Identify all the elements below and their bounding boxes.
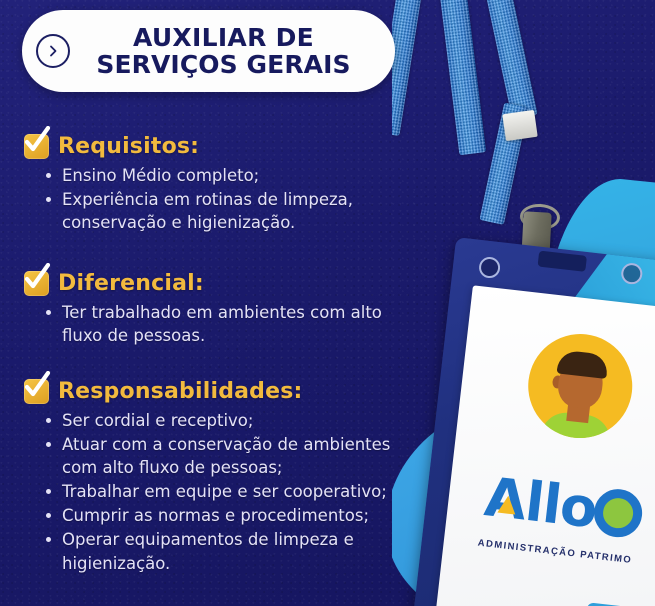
list-item: Experiência em rotinas de limpeza, conse… [46,188,353,234]
list-item: Ser cordial e receptivo; [46,409,390,432]
page-title: AUXILIAR DE SERVIÇOS GERAIS [70,24,395,78]
section-title: Requisitos: [58,134,199,159]
job-title-line1: AUXILIAR DE [70,24,377,51]
list-item: Atuar com a conservação de ambientes com… [46,433,390,479]
section-diferencial: Diferencial: Ter trabalhado em ambientes… [24,271,382,348]
job-title-pill: AUXILIAR DE SERVIÇOS GERAIS [22,10,395,92]
list-item: Ensino Médio completo; [46,164,353,187]
section-title: Responsabilidades: [58,379,303,404]
job-title-line2: SERVIÇOS GERAIS [70,51,377,78]
checkbox-checked-icon [24,379,49,404]
list-item: Trabalhar em equipe e ser cooperativo; [46,480,390,503]
section-requisitos: Requisitos: Ensino Médio completo; Exper… [24,134,353,235]
requirements-list: Ensino Médio completo; Experiência em ro… [24,164,353,234]
content-area: AUXILIAR DE SERVIÇOS GERAIS Requisitos: … [0,0,655,606]
differential-list: Ter trabalhado em ambientes com alto flu… [24,301,382,347]
section-header: Responsabilidades: [24,379,390,404]
list-item: Ter trabalhado em ambientes com alto flu… [46,301,382,347]
responsibilities-list: Ser cordial e receptivo; Atuar com a con… [24,409,390,575]
list-item: Operar equipamentos de limpeza e higieni… [46,528,390,574]
checkbox-checked-icon [24,271,49,296]
chevron-right-circle-icon [36,34,70,68]
checkbox-checked-icon [24,134,49,159]
section-title: Diferencial: [58,271,204,296]
section-responsabilidades: Responsabilidades: Ser cordial e recepti… [24,379,390,576]
section-header: Diferencial: [24,271,382,296]
section-header: Requisitos: [24,134,353,159]
list-item: Cumprir as normas e procedimentos; [46,504,390,527]
